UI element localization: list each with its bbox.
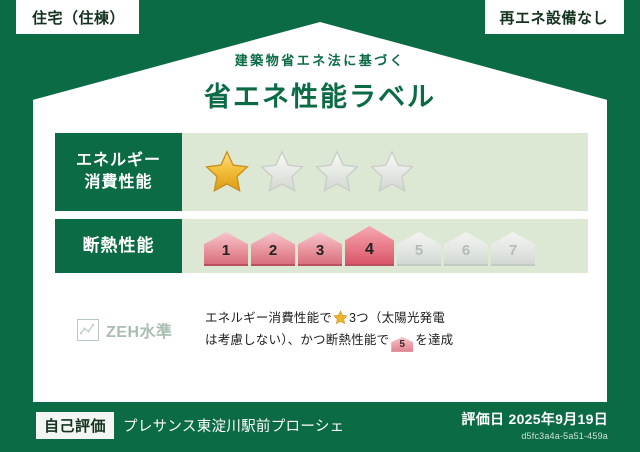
row-energy-label-line1: エネルギー bbox=[76, 150, 161, 172]
row-energy-label: エネルギー 消費性能 bbox=[55, 133, 182, 211]
insulation-badge-6: 6 bbox=[444, 232, 488, 266]
page-title: 建築物省エネ法に基づく 省エネ性能ラベル bbox=[0, 50, 640, 114]
row-insulation-value: 1234567 bbox=[182, 219, 588, 273]
inline-level-badge: 5 bbox=[391, 337, 413, 352]
row-insulation-label: 断熱性能 bbox=[55, 219, 182, 273]
title-main: 省エネ性能ラベル bbox=[0, 75, 640, 114]
tab-renewable-status-label: 再エネ設備なし bbox=[499, 7, 608, 28]
row-insulation-performance: 断熱性能 1234567 bbox=[55, 219, 588, 273]
insulation-badge-1: 1 bbox=[204, 232, 248, 266]
zeh-note-part4: を達成 bbox=[415, 333, 453, 347]
building-name: プレサンス東淀川駅前プローシェ bbox=[123, 415, 344, 436]
tab-building-type-label: 住宅（住棟） bbox=[32, 7, 125, 28]
self-evaluation-badge: 自己評価 bbox=[36, 412, 114, 439]
zeh-note-text: エネルギー消費性能で3つ（太陽光発電は考慮しない）、かつ断熱性能で5を達成 bbox=[205, 308, 453, 352]
zeh-badge: ZEH水準 bbox=[55, 318, 205, 342]
zeh-note-part2: 3つ（太陽光発電 bbox=[349, 311, 445, 325]
footer-left: 自己評価 プレサンス東淀川駅前プローシェ bbox=[0, 412, 344, 439]
metric-rows: エネルギー 消費性能 断熱性能 1234567 bbox=[55, 133, 588, 281]
tab-renewable-status: 再エネ設備なし bbox=[485, 0, 624, 34]
evaluation-date: 評価日 2025年9月19日 bbox=[461, 409, 608, 429]
star-filled-icon bbox=[204, 149, 250, 195]
row-energy-performance: エネルギー 消費性能 bbox=[55, 133, 588, 211]
evaluation-id: d5fc3a4a-5a51-459a bbox=[461, 431, 608, 441]
star-empty-icon bbox=[314, 149, 360, 195]
footer-right: 評価日 2025年9月19日 d5fc3a4a-5a51-459a bbox=[461, 409, 640, 441]
footer: 自己評価 プレサンス東淀川駅前プローシェ 評価日 2025年9月19日 d5fc… bbox=[0, 407, 640, 443]
zeh-note-part1: エネルギー消費性能で bbox=[205, 311, 332, 325]
insulation-badge-4: 4 bbox=[345, 226, 394, 266]
title-subtitle: 建築物省エネ法に基づく bbox=[0, 50, 640, 69]
star-empty-icon bbox=[259, 149, 305, 195]
insulation-badge-3: 3 bbox=[298, 232, 342, 266]
row-energy-value bbox=[182, 133, 588, 211]
tab-building-type: 住宅（住棟） bbox=[16, 0, 139, 34]
insulation-level-badges: 1234567 bbox=[204, 226, 535, 266]
star-rating bbox=[204, 149, 415, 195]
zeh-note-part3: は考慮しない）、かつ断熱性能で bbox=[205, 333, 389, 347]
zeh-badge-label: ZEH水準 bbox=[106, 318, 173, 342]
zeh-note-section: ZEH水準 エネルギー消費性能で3つ（太陽光発電は考慮しない）、かつ断熱性能で5… bbox=[55, 308, 588, 352]
insulation-badge-7: 7 bbox=[491, 232, 535, 266]
energy-label-card: 住宅（住棟） 再エネ設備なし 建築物省エネ法に基づく 省エネ性能ラベル エネルギ… bbox=[0, 0, 640, 452]
star-empty-icon bbox=[369, 149, 415, 195]
row-energy-label-line2: 消費性能 bbox=[84, 172, 152, 194]
row-insulation-label-text: 断熱性能 bbox=[83, 235, 155, 258]
zeh-chart-icon bbox=[77, 319, 99, 341]
inline-star-icon bbox=[333, 310, 348, 325]
insulation-badge-2: 2 bbox=[251, 232, 295, 266]
insulation-badge-5: 5 bbox=[397, 232, 441, 266]
